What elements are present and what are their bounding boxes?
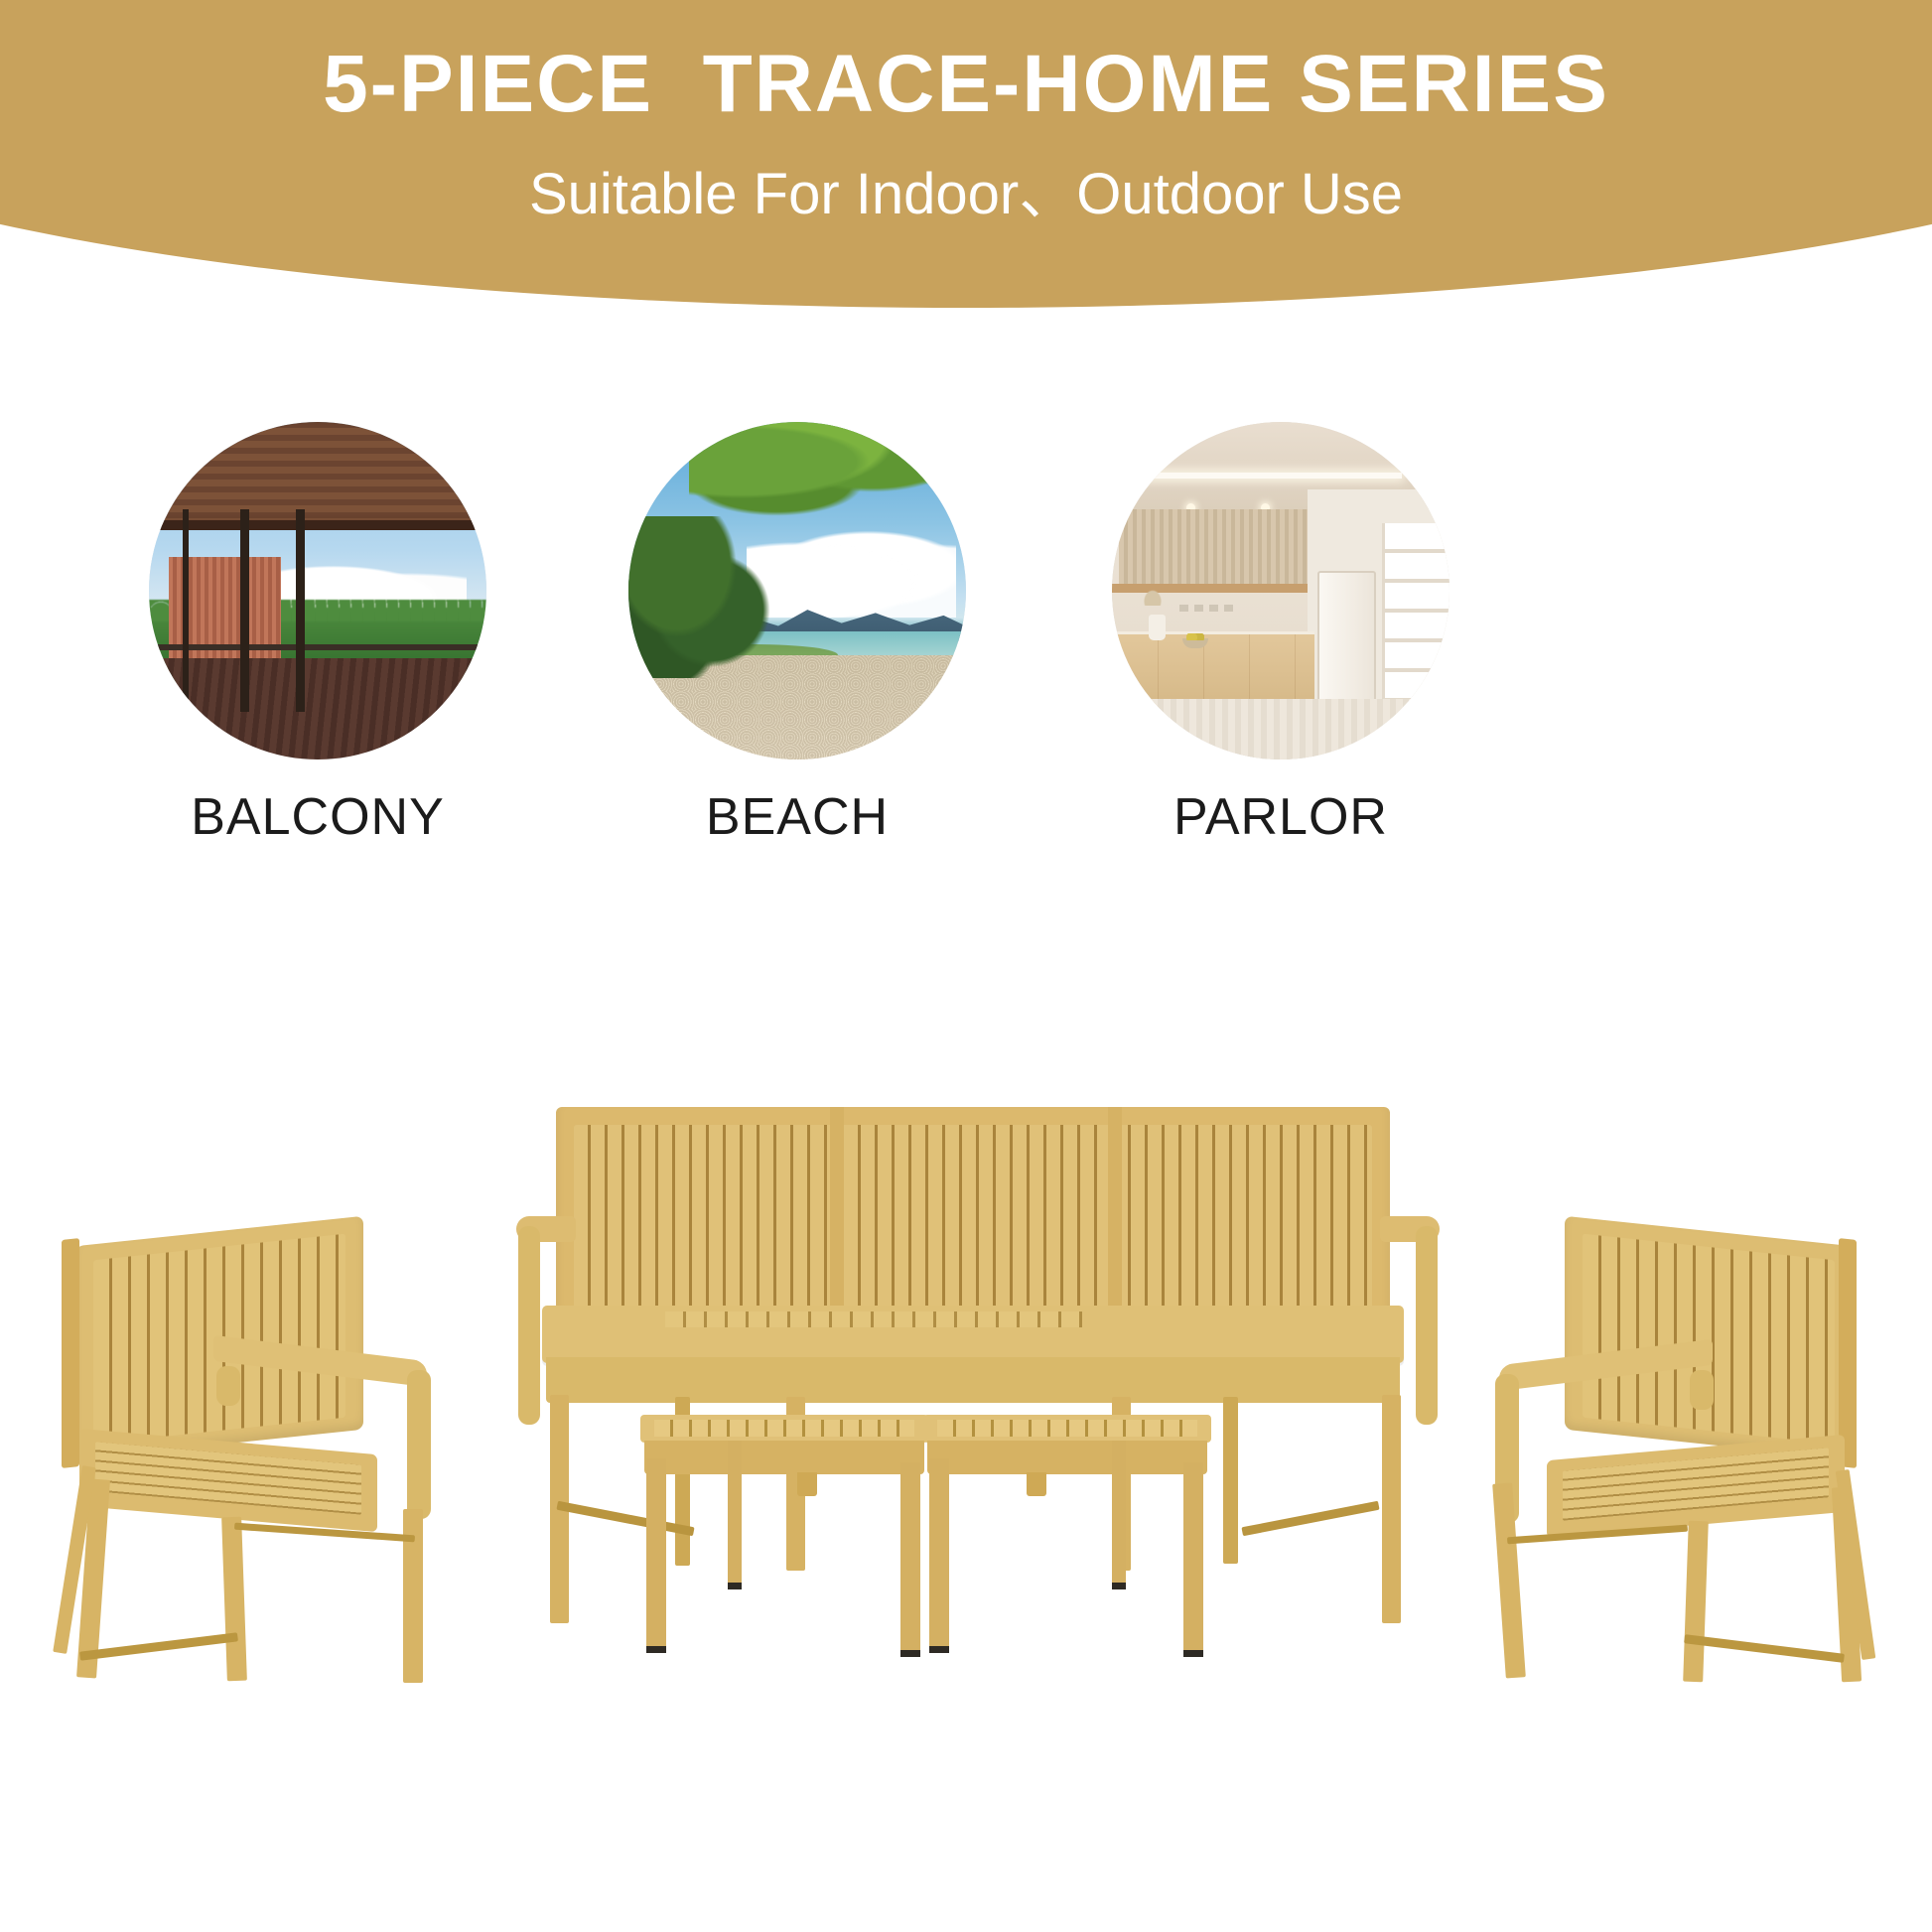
parlor-photo-icon — [1112, 422, 1449, 759]
scene-item-balcony: BALCONY — [149, 422, 486, 847]
coffee-table-right — [923, 1415, 1211, 1673]
header-banner: 5-PIECE TRACE-HOME SERIES Suitable For I… — [0, 0, 1932, 318]
page-subtitle: Suitable For Indoor、Outdoor Use — [529, 147, 1403, 230]
page-title: 5-PIECE TRACE-HOME SERIES — [323, 42, 1609, 127]
armchair-left — [40, 1231, 457, 1678]
scene-item-parlor: PARLOR — [1112, 422, 1449, 847]
banner-text-group: 5-PIECE TRACE-HOME SERIES Suitable For I… — [0, 0, 1932, 318]
product-furniture-set — [0, 1072, 1932, 1827]
sofa-backrest — [556, 1107, 1390, 1320]
scene-item-beach: BEACH — [628, 422, 966, 847]
scene-label-parlor: PARLOR — [1112, 787, 1449, 847]
scene-gallery: BALCONY BEACH — [0, 422, 1932, 918]
coffee-table-right-top — [923, 1415, 1211, 1443]
balcony-photo-icon — [149, 422, 486, 759]
scene-label-balcony: BALCONY — [149, 787, 486, 847]
armchair-right — [1469, 1231, 1886, 1678]
beach-photo-icon — [628, 422, 966, 759]
coffee-table-left-top — [640, 1415, 928, 1443]
scene-label-beach: BEACH — [628, 787, 966, 847]
coffee-table-left — [640, 1415, 928, 1673]
armchair-right-backrest — [1565, 1216, 1853, 1459]
